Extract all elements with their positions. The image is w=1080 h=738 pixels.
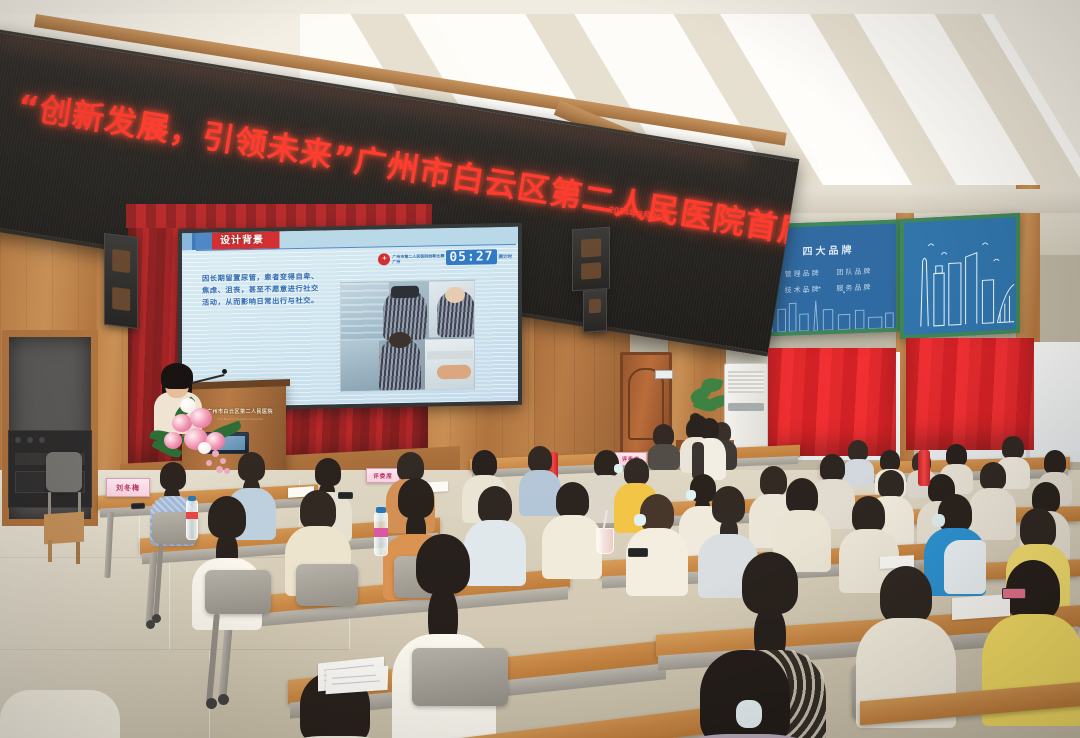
water-bottle bbox=[186, 500, 198, 540]
smartphone bbox=[131, 503, 145, 510]
judge-name: 刘冬梅 bbox=[116, 483, 140, 493]
timer-digits: 05:27 bbox=[446, 249, 496, 265]
document-stack-2 bbox=[326, 666, 389, 694]
timer-org-line1: 广州市第二人民医院创新比赛 bbox=[392, 253, 444, 259]
stool-leg bbox=[48, 540, 52, 562]
timer-label: 倒计时 bbox=[499, 253, 513, 259]
desk-caster bbox=[218, 694, 229, 705]
drink-cup bbox=[596, 528, 614, 554]
chair bbox=[296, 564, 358, 606]
bottle-label bbox=[374, 528, 388, 537]
window-curtain-1 bbox=[768, 348, 896, 456]
chair-caster bbox=[152, 614, 161, 623]
chair-caster bbox=[206, 698, 217, 709]
microphone-head bbox=[222, 369, 227, 374]
brand-item-2: 团队品牌 bbox=[836, 268, 872, 276]
stool-leg bbox=[76, 542, 80, 564]
thermos-bottle bbox=[918, 450, 930, 486]
attendee-edge-left bbox=[0, 690, 120, 738]
door-sign bbox=[655, 370, 673, 379]
loudspeaker-right bbox=[572, 227, 610, 292]
skyline-graphic bbox=[761, 276, 896, 333]
bottle-label bbox=[186, 512, 198, 519]
speaker-hair bbox=[161, 363, 193, 389]
countdown-timer: + 广州市第二人民医院创新比赛 广州 05:27 倒计时 bbox=[378, 249, 512, 267]
brand-item-1: 管理品牌 bbox=[785, 270, 821, 278]
slide-title: 设计背景 bbox=[220, 233, 264, 249]
flower-arrangement bbox=[150, 398, 245, 476]
slide-body-text: 因长期留置尿管，患者变得自卑、焦虑、沮丧，甚至不愿意进行社交活动，从而影响日常出… bbox=[202, 271, 322, 309]
slide-photo bbox=[340, 280, 475, 393]
smartphone bbox=[338, 492, 353, 499]
folding-chair bbox=[46, 452, 82, 492]
timer-org-line2: 广州 bbox=[392, 258, 444, 264]
conference-hall-photo: 四大品牌 管理品牌 团队品牌 技术品牌 服务品牌 bbox=[0, 0, 1080, 738]
ac-vent bbox=[728, 403, 764, 411]
ac-grill bbox=[728, 371, 764, 393]
name-card-judge-left: 刘冬梅 bbox=[106, 478, 150, 497]
bottle-cap bbox=[376, 507, 386, 513]
loudspeaker-right-lower bbox=[583, 289, 607, 333]
hospital-logo-icon: + bbox=[378, 253, 390, 265]
smartphone-pink bbox=[1002, 588, 1026, 599]
loudspeaker-left bbox=[104, 233, 138, 329]
bottle-cap bbox=[188, 496, 196, 501]
skyline-poster bbox=[900, 213, 1020, 339]
chair bbox=[412, 648, 508, 706]
chair bbox=[205, 570, 271, 614]
name-card-judge-right: 评委席 bbox=[366, 468, 400, 483]
smartphone bbox=[628, 548, 648, 557]
window-curtain-2 bbox=[906, 338, 1034, 450]
guangzhou-skyline-icon bbox=[904, 217, 1016, 335]
